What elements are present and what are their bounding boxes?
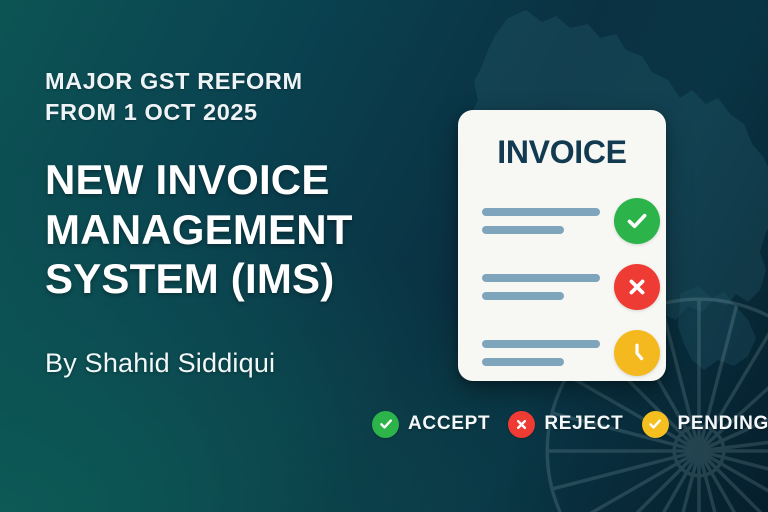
invoice-text-lines <box>482 208 600 234</box>
cross-circle-icon <box>614 264 660 310</box>
invoice-line-bar <box>482 358 564 366</box>
invoice-line-bar <box>482 226 564 234</box>
eyebrow-line-2: FROM 1 OCT 2025 <box>45 97 425 128</box>
status-legend: ACCEPT REJECT PENDING <box>372 404 768 444</box>
byline: By Shahid Siddiqui <box>45 348 275 379</box>
invoice-text-lines <box>482 340 600 366</box>
page-title: NEW INVOICE MANAGEMENT SYSTEM (IMS) <box>45 155 445 304</box>
check-circle-icon <box>372 411 399 438</box>
legend-item-reject: REJECT <box>508 411 623 438</box>
invoice-row-accept <box>482 188 652 254</box>
headline-line-3: SYSTEM (IMS) <box>45 254 445 304</box>
invoice-row-pending <box>482 320 652 386</box>
legend-label-reject: REJECT <box>544 413 623 435</box>
invoice-row-reject <box>482 254 652 320</box>
invoice-line-bar <box>482 340 600 348</box>
headline-line-2: MANAGEMENT <box>45 205 445 255</box>
invoice-card-title: INVOICE <box>458 134 666 171</box>
invoice-text-lines <box>482 274 600 300</box>
eyebrow-line-1: MAJOR GST REFORM <box>45 66 425 97</box>
legend-label-accept: ACCEPT <box>408 413 490 435</box>
announcement-banner: MAJOR GST REFORM FROM 1 OCT 2025 NEW INV… <box>0 0 768 512</box>
headline-line-1: NEW INVOICE <box>45 155 445 205</box>
invoice-line-bar <box>482 208 600 216</box>
check-circle-icon <box>642 411 669 438</box>
legend-label-pending: PENDING <box>678 413 768 435</box>
invoice-line-bar <box>482 274 600 282</box>
invoice-card-body <box>482 188 652 363</box>
check-circle-icon <box>614 198 660 244</box>
legend-item-accept: ACCEPT <box>372 411 490 438</box>
cross-circle-icon <box>508 411 535 438</box>
invoice-line-bar <box>482 292 564 300</box>
legend-item-pending: PENDING <box>642 411 768 438</box>
eyebrow-text: MAJOR GST REFORM FROM 1 OCT 2025 <box>45 66 425 128</box>
invoice-card: INVOICE <box>458 110 666 381</box>
clock-circle-icon <box>614 330 660 376</box>
